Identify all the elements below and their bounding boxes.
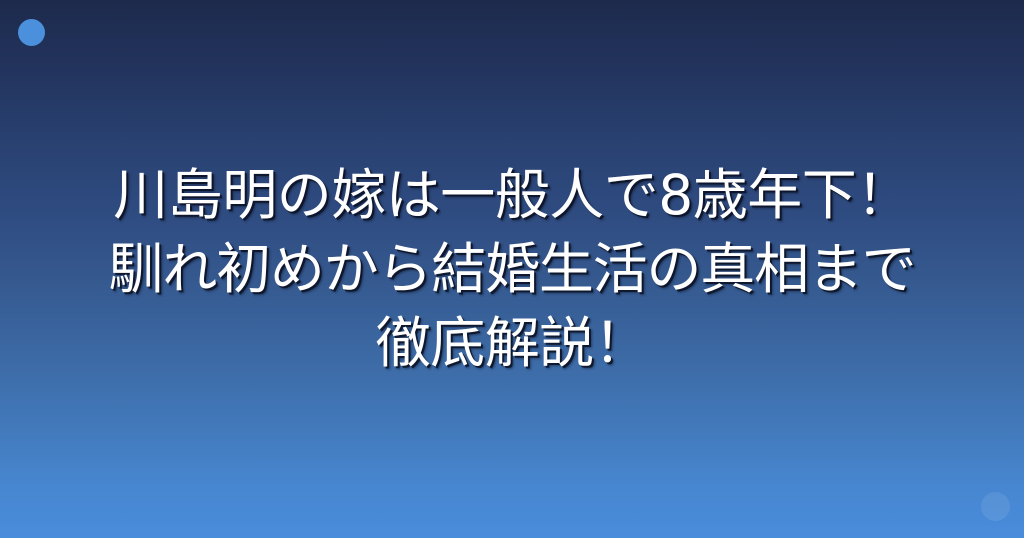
thumbnail-canvas: 川島明の嫁は一般人で8歳年下！ 馴れ初めから結婚生活の真相まで 徹底解説！ [0, 0, 1024, 538]
title-line-3: 徹底解説！ [18, 306, 1006, 380]
title-line-1: 川島明の嫁は一般人で8歳年下！ [18, 158, 1006, 232]
title-line-2: 馴れ初めから結婚生活の真相まで [18, 232, 1006, 306]
page-title: 川島明の嫁は一般人で8歳年下！ 馴れ初めから結婚生活の真相まで 徹底解説！ [0, 0, 1024, 538]
